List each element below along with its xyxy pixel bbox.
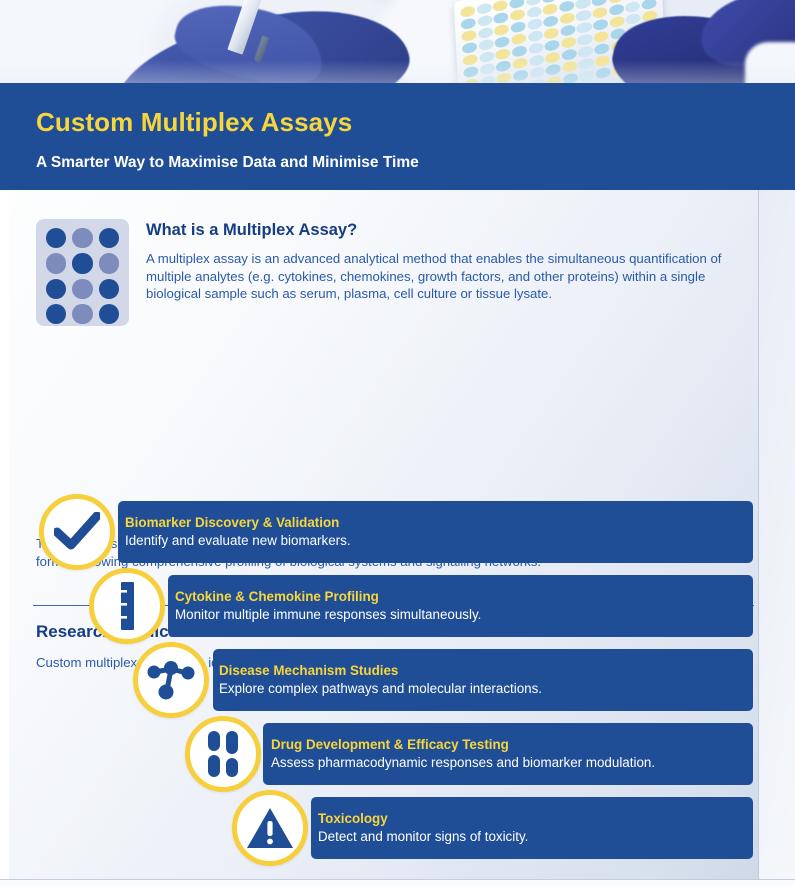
application-card-bar[interactable]: Cytokine & Chemokine ProfilingMonitor mu…: [168, 575, 753, 637]
application-card-title: Biomarker Discovery & Validation: [125, 515, 739, 531]
application-cards-list: Biomarker Discovery & ValidationIdentify…: [0, 190, 795, 886]
application-card[interactable]: Disease Mechanism StudiesExplore complex…: [0, 649, 795, 711]
infographic-page: Custom Multiplex Assays A Smarter Way to…: [0, 0, 795, 886]
page-edge-bottom: [0, 879, 795, 886]
application-card-bar[interactable]: Disease Mechanism StudiesExplore complex…: [213, 649, 753, 711]
application-card-description: Identify and evaluate new biomarkers.: [125, 532, 739, 549]
header-band: Custom Multiplex Assays A Smarter Way to…: [0, 83, 795, 190]
checkmark-icon: [54, 512, 100, 552]
application-card[interactable]: ToxicologyDetect and monitor signs of to…: [0, 797, 795, 859]
application-card-icon-circle: [232, 790, 308, 866]
test-tube-icon: [112, 581, 142, 631]
application-card-icon-circle: [89, 568, 165, 644]
page-edge-left: [0, 190, 9, 886]
application-card-description: Assess pharmacodynamic responses and bio…: [271, 754, 739, 771]
hero-overlay-fade: [0, 0, 795, 83]
page-subtitle: A Smarter Way to Maximise Data and Minim…: [36, 155, 795, 171]
molecule-network-icon: [146, 657, 196, 703]
content-area: What is a Multiplex Assay? A multiplex a…: [0, 190, 795, 886]
application-card[interactable]: Biomarker Discovery & ValidationIdentify…: [0, 501, 795, 563]
application-card-bar[interactable]: Biomarker Discovery & ValidationIdentify…: [118, 501, 753, 563]
application-card[interactable]: Drug Development & Efficacy TestingAsses…: [0, 723, 795, 785]
application-card[interactable]: Cytokine & Chemokine ProfilingMonitor mu…: [0, 575, 795, 637]
application-card-description: Detect and monitor signs of toxicity.: [318, 828, 739, 845]
application-card-bar[interactable]: ToxicologyDetect and monitor signs of to…: [311, 797, 753, 859]
page-title: Custom Multiplex Assays: [36, 109, 795, 135]
application-card-icon-circle: [39, 494, 115, 570]
application-card-icon-circle: [185, 716, 261, 792]
warning-triangle-icon: [245, 806, 295, 850]
hero-lab-photo: [0, 0, 795, 83]
hero-photo-canvas: [0, 0, 795, 83]
application-card-title: Cytokine & Chemokine Profiling: [175, 589, 739, 605]
application-card-description: Monitor multiple immune responses simult…: [175, 606, 739, 623]
application-card-title: Disease Mechanism Studies: [219, 663, 739, 679]
application-card-bar[interactable]: Drug Development & Efficacy TestingAsses…: [263, 723, 753, 785]
page-edge-right: [758, 190, 795, 886]
application-card-icon-circle: [133, 642, 209, 718]
capsule-pills-icon: [204, 730, 242, 778]
application-card-description: Explore complex pathways and molecular i…: [219, 680, 739, 697]
application-card-title: Drug Development & Efficacy Testing: [271, 737, 739, 753]
application-card-title: Toxicology: [318, 811, 739, 827]
